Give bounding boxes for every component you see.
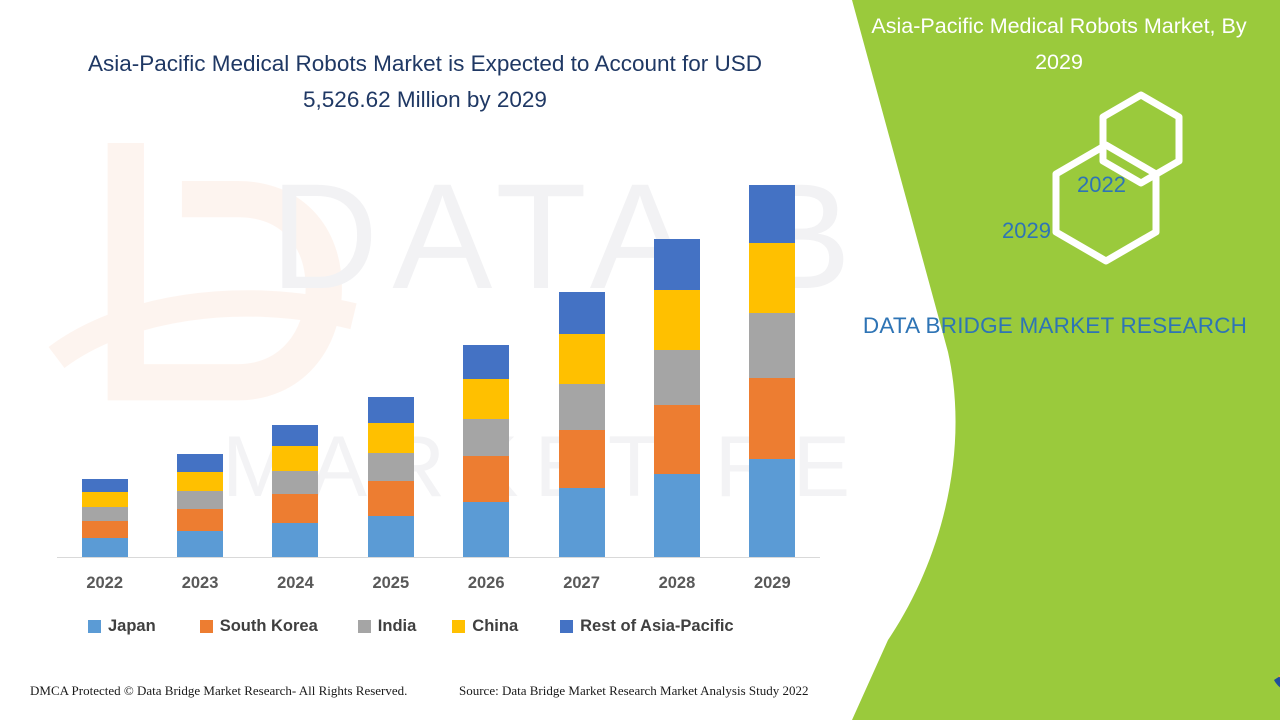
bar-segment[interactable] (272, 471, 318, 494)
legend-item-india[interactable]: India (358, 617, 417, 636)
x-axis-line (57, 557, 820, 558)
bar-segment[interactable] (654, 290, 700, 350)
bar-segment[interactable] (749, 459, 795, 558)
bar-segment[interactable] (559, 430, 605, 488)
hexagon-2022-label: 2022 (1077, 172, 1126, 198)
hexagon-2029-label: 2029 (1002, 218, 1051, 244)
footer-dmca-text: DMCA Protected © Data Bridge Market Rese… (30, 683, 407, 699)
bar-segment[interactable] (177, 491, 223, 509)
bar-segment[interactable] (272, 425, 318, 446)
bar-segment[interactable] (559, 384, 605, 430)
bar-segment[interactable] (749, 313, 795, 378)
legend-label: Rest of Asia-Pacific (580, 617, 733, 636)
bar-segment[interactable] (368, 481, 414, 516)
bar-segment[interactable] (368, 423, 414, 453)
bar-column-2029[interactable] (749, 185, 795, 558)
x-axis-label-2027: 2027 (534, 574, 629, 593)
bar-segment[interactable] (82, 538, 128, 558)
bar-segment[interactable] (749, 378, 795, 459)
bar-segment[interactable] (559, 334, 605, 384)
legend-item-south-korea[interactable]: South Korea (200, 617, 318, 636)
bar-segment[interactable] (82, 492, 128, 507)
bar-segment[interactable] (272, 523, 318, 558)
brand-name-text: DATA BRIDGE MARKET RESEARCH (830, 310, 1280, 342)
bar-column-2022[interactable] (82, 479, 128, 558)
bar-segment[interactable] (368, 397, 414, 423)
bar-segment[interactable] (463, 379, 509, 419)
hexagon-2022-shape (1103, 95, 1179, 183)
bar-segment[interactable] (654, 239, 700, 290)
legend-label: South Korea (220, 617, 318, 636)
bar-segment[interactable] (177, 472, 223, 491)
data-bridge-logo-icon (1270, 620, 1280, 700)
bar-segment[interactable] (654, 350, 700, 405)
bar-segment[interactable] (463, 345, 509, 379)
legend-swatch-icon (452, 620, 465, 633)
legend-label: China (472, 617, 518, 636)
legend-swatch-icon (88, 620, 101, 633)
x-axis-label-2025: 2025 (343, 574, 438, 593)
footer: DMCA Protected © Data Bridge Market Rese… (0, 683, 860, 707)
legend-item-rest-of-asia-pacific[interactable]: Rest of Asia-Pacific (560, 617, 733, 636)
x-axis-label-2026: 2026 (439, 574, 534, 593)
bar-segment[interactable] (368, 453, 414, 481)
x-axis-label-2022: 2022 (57, 574, 152, 593)
bar-segment[interactable] (749, 185, 795, 243)
bar-segment[interactable] (463, 456, 509, 502)
legend-item-china[interactable]: China (452, 617, 518, 636)
bar-segment[interactable] (82, 479, 128, 492)
x-axis-label-2028: 2028 (629, 574, 724, 593)
legend-swatch-icon (560, 620, 573, 633)
x-axis-tick-labels: 20222023202420252026202720282029 (57, 574, 820, 600)
bar-column-2023[interactable] (177, 454, 223, 558)
right-green-panel: Asia-Pacific Medical Robots Market, By 2… (830, 0, 1280, 720)
legend-label: India (378, 617, 417, 636)
footer-source-text: Source: Data Bridge Market Research Mark… (459, 683, 808, 699)
bar-segment[interactable] (177, 531, 223, 558)
bar-segment[interactable] (463, 419, 509, 456)
legend-label: Japan (108, 617, 156, 636)
x-axis-label-2023: 2023 (153, 574, 248, 593)
bar-column-2024[interactable] (272, 425, 318, 558)
legend-swatch-icon (200, 620, 213, 633)
bar-column-2027[interactable] (559, 292, 605, 558)
bar-segment[interactable] (463, 502, 509, 558)
bar-segment[interactable] (749, 243, 795, 313)
bar-segment[interactable] (559, 488, 605, 558)
x-axis-label-2024: 2024 (248, 574, 343, 593)
bar-segment[interactable] (272, 494, 318, 523)
bar-segment[interactable] (654, 405, 700, 474)
bar-segment[interactable] (654, 474, 700, 558)
chart-title: Asia-Pacific Medical Robots Market is Ex… (55, 46, 795, 118)
bar-column-2028[interactable] (654, 239, 700, 558)
chart-plot-area (57, 170, 820, 558)
bar-segment[interactable] (82, 507, 128, 521)
bar-column-2025[interactable] (368, 397, 414, 558)
bar-segment[interactable] (559, 292, 605, 334)
legend-item-japan[interactable]: Japan (88, 617, 156, 636)
legend-swatch-icon (358, 620, 371, 633)
x-axis-label-2029: 2029 (725, 574, 820, 593)
bar-column-2026[interactable] (463, 345, 509, 558)
hexagon-outlines-icon (830, 0, 1280, 300)
bar-segment[interactable] (368, 516, 414, 558)
bar-segment[interactable] (177, 454, 223, 472)
bar-segment[interactable] (272, 446, 318, 471)
chart-legend: JapanSouth KoreaIndiaChinaRest of Asia-P… (88, 617, 734, 636)
bar-segment[interactable] (82, 521, 128, 538)
hexagon-badges: 2022 2029 (830, 0, 1280, 300)
bar-segment[interactable] (177, 509, 223, 531)
